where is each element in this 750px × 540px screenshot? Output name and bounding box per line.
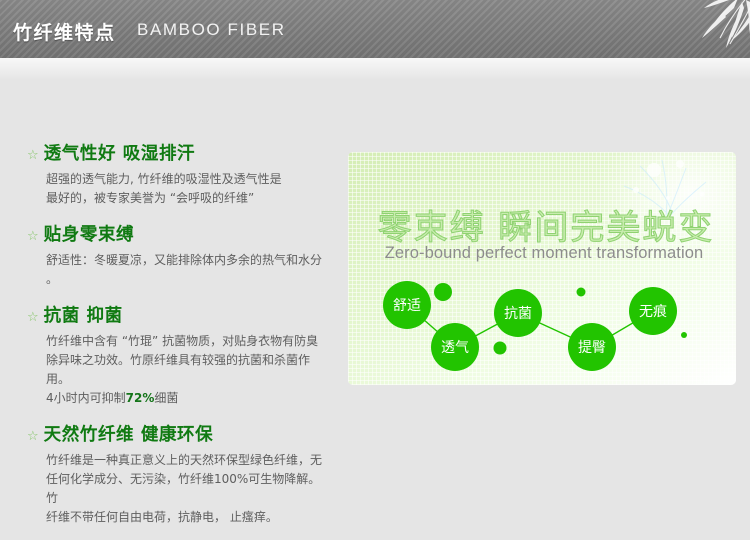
feature-title: 抗菌 抑菌 [44, 302, 123, 327]
feature-block-breathability: ☆ 透气性好 吸湿排汗 超强的透气能力, 竹纤维的吸湿性及透气性是 最好的，被专… [27, 140, 332, 208]
feature-body: 舒适性：冬暖夏凉，又能排除体内多余的热气和水分 。 [46, 251, 332, 289]
node-label-layer: 舒适透气抗菌提臀无痕 [348, 152, 736, 385]
benefit-node-label: 抗菌 [504, 303, 532, 323]
feature-heading: ☆ 天然竹纤维 健康环保 [27, 421, 332, 446]
promo-panel: 零束缚 瞬间完美蜕变 Zero-bound perfect moment tra… [348, 152, 736, 385]
header-title-english: BAMBOO FIBER [137, 20, 286, 40]
header-bottom-fade [0, 58, 750, 80]
feature-title: 贴身零束缚 [44, 221, 135, 246]
feature-body-line: 竹纤维是一种真正意义上的天然环保型绿色纤维，无 [46, 451, 332, 470]
benefit-node-label: 舒适 [393, 295, 421, 315]
feature-body: 竹纤维是一种真正意义上的天然环保型绿色纤维，无 任何化学成分、无污染，竹纤维10… [46, 451, 332, 527]
star-icon: ☆ [27, 148, 39, 161]
feature-block-antibacterial: ☆ 抗菌 抑菌 竹纤维中含有 “竹琨” 抗菌物质，对贴身衣物有防臭 除异味之功效… [27, 302, 332, 408]
page-header: 竹纤维特点 BAMBOO FIBER [0, 0, 750, 58]
feature-list: ☆ 透气性好 吸湿排汗 超强的透气能力, 竹纤维的吸湿性及透气性是 最好的，被专… [27, 140, 332, 540]
star-icon: ☆ [27, 310, 39, 323]
stat-suffix: 细菌 [154, 391, 178, 405]
feature-body: 竹纤维中含有 “竹琨” 抗菌物质，对贴身衣物有防臭 除异味之功效。竹原纤维具有较… [46, 332, 332, 408]
header-title-chinese: 竹纤维特点 [13, 18, 116, 45]
benefit-node-label: 无痕 [639, 301, 667, 321]
feature-block-natural-eco: ☆ 天然竹纤维 健康环保 竹纤维是一种真正意义上的天然环保型绿色纤维，无 任何化… [27, 421, 332, 527]
feature-body-line: 最好的，被专家美誉为 “会呼吸的纤维” [46, 189, 332, 208]
feature-block-no-restraint: ☆ 贴身零束缚 舒适性：冬暖夏凉，又能排除体内多余的热气和水分 。 [27, 221, 332, 289]
star-icon: ☆ [27, 229, 39, 242]
feature-body-line: 超强的透气能力, 竹纤维的吸湿性及透气性是 [46, 170, 332, 189]
star-icon: ☆ [27, 429, 39, 442]
feature-heading: ☆ 贴身零束缚 [27, 221, 332, 246]
feature-body: 超强的透气能力, 竹纤维的吸湿性及透气性是 最好的，被专家美誉为 “会呼吸的纤维… [46, 170, 332, 208]
feature-body-line: 任何化学成分、无污染，竹纤维100%可生物降解。竹 [46, 470, 332, 508]
feature-heading: ☆ 抗菌 抑菌 [27, 302, 332, 327]
feature-body-line-stat: 4小时内可抑制72%细菌 [46, 389, 332, 408]
stat-prefix: 4小时内可抑制 [46, 391, 126, 405]
feature-body-line: 舒适性：冬暖夏凉，又能排除体内多余的热气和水分 。 [46, 251, 332, 289]
feature-body-line: 竹纤维中含有 “竹琨” 抗菌物质，对贴身衣物有防臭 [46, 332, 332, 351]
feature-title: 透气性好 吸湿排汗 [44, 140, 196, 165]
benefit-node-label: 提臀 [578, 337, 606, 357]
feature-title: 天然竹纤维 健康环保 [44, 421, 214, 446]
feature-heading: ☆ 透气性好 吸湿排汗 [27, 140, 332, 165]
feature-body-line: 纤维不带任何自由电荷，抗静电， 止瘙痒。 [46, 508, 332, 527]
feature-body-line: 除异味之功效。竹原纤维具有较强的抗菌和杀菌作用。 [46, 351, 332, 389]
benefit-node-label: 透气 [441, 337, 469, 357]
bamboo-leaves-icon [668, 0, 750, 58]
stat-highlight: 72% [126, 391, 155, 405]
